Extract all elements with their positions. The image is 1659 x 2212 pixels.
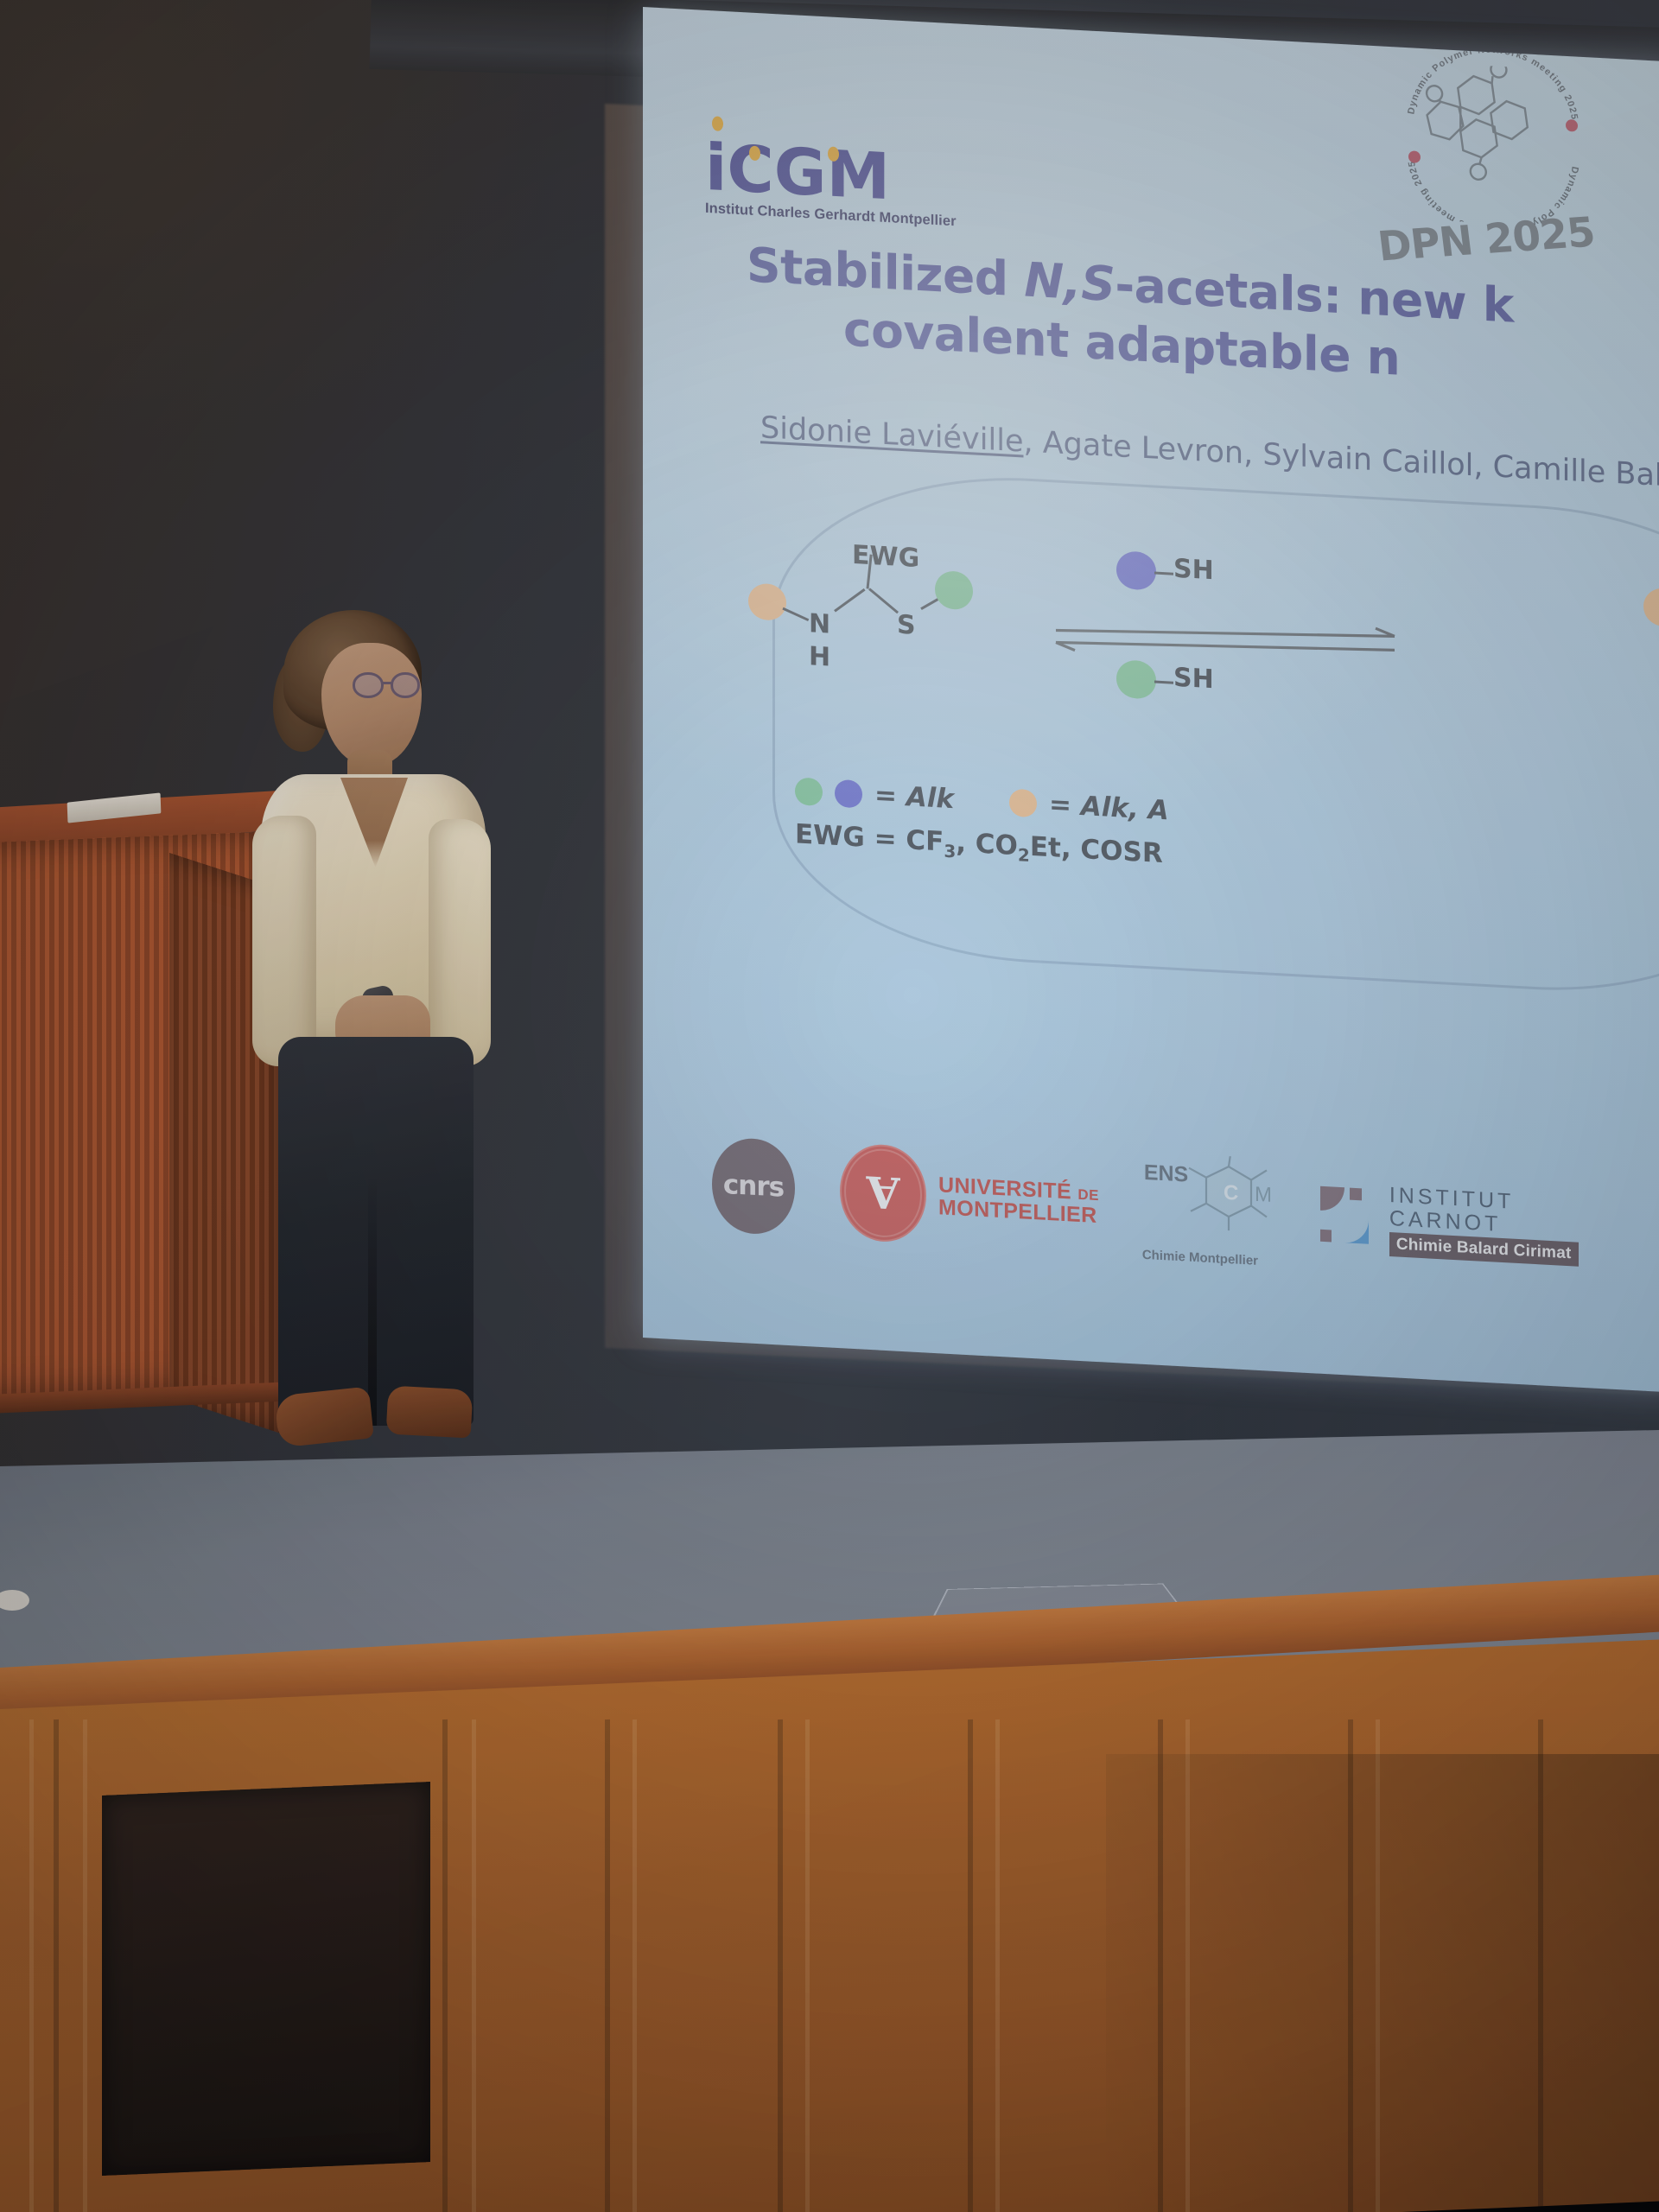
projection-screen: i C G M Institut Charles Gerhardt Montpe… [643, 0, 1659, 1403]
apron-groove [632, 1719, 637, 2212]
reagent-ball-green [1116, 659, 1156, 699]
carnot-mark-icon [1319, 1183, 1381, 1254]
dpn-ring-dot-icon [1566, 119, 1578, 132]
slide-authors: Sidonie Laviéville, Agate Levron, Sylvai… [760, 410, 1659, 498]
scheme-bond [868, 588, 899, 613]
universite-montpellier-logo: Ɐ UNIVERSITÉ DE MONTPELLIER [840, 1142, 1099, 1253]
svg-text:C: C [1224, 1181, 1238, 1205]
um-wordmark: UNIVERSITÉ DE MONTPELLIER [938, 1173, 1099, 1228]
legend-ball-orange [1009, 789, 1037, 818]
icgm-logo: i C G M Institut Charles Gerhardt Montpe… [705, 131, 964, 231]
speaker-shoe-left [274, 1386, 374, 1447]
apron-groove [995, 1719, 1000, 2212]
speaker-leg-separation [368, 1175, 377, 1426]
icgm-dot-icon [828, 146, 839, 162]
apron-groove [778, 1719, 783, 2212]
legend-alk-left: = Alk [874, 779, 954, 815]
cnrs-wordmark: cnrs [723, 1169, 784, 1204]
cnrs-logo: cnrs [712, 1136, 795, 1236]
apron-groove [805, 1719, 810, 2212]
carnot-wordmark: INSTITUT CARNOT Chimie Balard Cirimat [1389, 1184, 1579, 1266]
apron-groove [968, 1719, 973, 2212]
ens-chimie-montpellier-logo: ENS C [1144, 1155, 1274, 1266]
glasses-lens-left [353, 672, 384, 698]
apron-groove [442, 1719, 448, 2212]
reagent-bond [1154, 572, 1173, 575]
ens-hexagon-icon: C M [1180, 1154, 1274, 1255]
scheme-label-EWG: EWG [852, 540, 919, 574]
equilibrium-arrow-icon [1049, 604, 1412, 671]
legend-ball-green [795, 777, 823, 806]
reagent-bond [1154, 681, 1173, 684]
apron-groove [54, 1719, 59, 2212]
apron-right-shadow [1106, 1754, 1659, 2212]
apron-groove [83, 1719, 87, 2212]
scheme-label-S: S [897, 610, 916, 641]
speaker-arm-left [252, 816, 316, 1066]
reagent-ball-blue [1116, 550, 1156, 590]
presenting-author: Sidonie Laviéville [760, 410, 1023, 459]
um-seal-icon: Ɐ [840, 1142, 926, 1243]
slide-footer-logos: cnrs Ɐ UNIVERSITÉ DE MONTPELLIER ENS [712, 1123, 1659, 1297]
reagent-label-SH-bottom: SH [1173, 663, 1214, 695]
stage-apron-grille-panel [102, 1782, 430, 2176]
dpn-event-badge: Dynamic Polymer Networks meeting 2025 Dy… [1370, 41, 1630, 305]
apron-groove [605, 1719, 610, 2212]
dpn-molecule-icon [1402, 61, 1540, 203]
slide-surface: i C G M Institut Charles Gerhardt Montpe… [643, 7, 1659, 1393]
icgm-letter-g: G [774, 134, 825, 211]
icgm-wordmark: i C G M [705, 131, 964, 211]
speaker-glasses-icon [353, 672, 423, 698]
scheme-bond [834, 588, 866, 613]
apron-groove [29, 1719, 34, 2212]
speaker-shoe-right [386, 1385, 474, 1438]
icgm-letter-i: i [705, 130, 725, 206]
speaker-face [321, 643, 422, 766]
apron-groove [472, 1719, 476, 2212]
presentation-photo-scene: i C G M Institut Charles Gerhardt Montpe… [0, 0, 1659, 2212]
scheme-bond [782, 607, 809, 621]
scheme-label-H: H [809, 641, 830, 672]
glasses-lens-right [391, 672, 420, 698]
institut-carnot-logo: INSTITUT CARNOT Chimie Balard Cirimat [1319, 1180, 1579, 1267]
reagent-label-SH-top: SH [1173, 554, 1214, 586]
scheme-ball-orange [748, 583, 786, 621]
carnot-tagline-bar: Chimie Balard Cirimat [1389, 1232, 1579, 1267]
legend-ball-blue [835, 779, 862, 809]
product-ball-orange [1643, 588, 1659, 627]
scheme-label-N: N [809, 608, 830, 639]
icgm-letter-c: C [727, 131, 772, 208]
legend-alk-right: = Alk, A [1049, 789, 1169, 826]
scheme-ball-green [935, 570, 973, 610]
speaker-arm-right [429, 819, 491, 1066]
icgm-dot-icon [712, 116, 723, 131]
svg-text:M: M [1255, 1183, 1272, 1207]
speaker [232, 605, 517, 1495]
